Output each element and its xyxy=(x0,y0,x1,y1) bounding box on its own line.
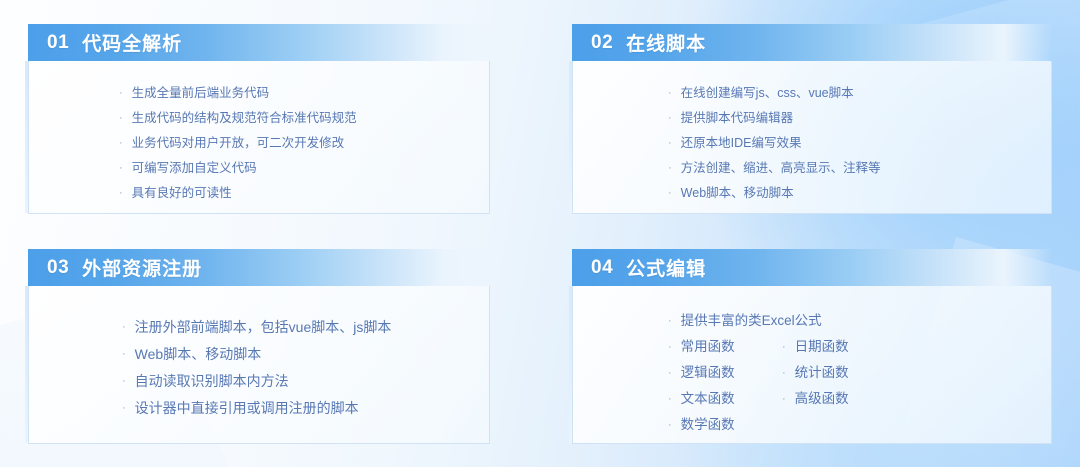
list-item: ·业务代码对用户开放，可二次开发修改 xyxy=(119,131,489,156)
list-item-label: Web脚本、移动脚本 xyxy=(681,181,794,206)
bullet-dot-icon: · xyxy=(782,360,786,386)
card-03-bullet-list: ·注册外部前端脚本，包括vue脚本、js脚本 ·Web脚本、移动脚本 ·自动读取… xyxy=(122,314,489,422)
bullet-dot-icon: · xyxy=(119,181,123,206)
card-01-body: ·生成全量前后端业务代码 ·生成代码的结构及规范符合标准代码规范 ·业务代码对用… xyxy=(28,61,490,214)
card-04-left-rail xyxy=(569,286,572,443)
list-item-label: 可编写添加自定义代码 xyxy=(132,156,257,181)
list-item-label: 还原本地IDE编写效果 xyxy=(681,131,802,156)
card-01-number: 01 xyxy=(47,32,69,54)
bullet-dot-icon: · xyxy=(668,181,672,206)
card-02-header: 02 在线脚本 xyxy=(572,24,1052,61)
bullet-dot-icon: · xyxy=(122,341,126,368)
card-04-function-columns: ·常用函数 ·逻辑函数 ·文本函数 ·数学函数 ·日期函数 ·统计函数 ·高级函… xyxy=(668,334,1051,438)
card-02-number: 02 xyxy=(591,32,613,54)
bullet-dot-icon: · xyxy=(668,156,672,181)
bullet-dot-icon: · xyxy=(119,106,123,131)
feature-card-grid: 01 代码全解析 ·生成全量前后端业务代码 ·生成代码的结构及规范符合标准代码规… xyxy=(0,0,1080,467)
card-03-number: 03 xyxy=(47,257,69,279)
bullet-dot-icon: · xyxy=(668,106,672,131)
card-04-column-right: ·日期函数 ·统计函数 ·高级函数 xyxy=(782,334,849,438)
card-03-left-rail xyxy=(25,286,28,443)
card-04-content: ·提供丰富的类Excel公式 ·常用函数 ·逻辑函数 ·文本函数 ·数学函数 ·… xyxy=(668,308,1051,438)
card-04-header: 04 公式编辑 xyxy=(572,249,1052,286)
list-item-label: 数学函数 xyxy=(681,412,735,438)
list-item-label: 在线创建编写js、css、vue脚本 xyxy=(681,81,854,106)
bullet-dot-icon: · xyxy=(782,386,786,412)
list-item-label: 注册外部前端脚本，包括vue脚本、js脚本 xyxy=(135,314,392,341)
list-item-label: 提供丰富的类Excel公式 xyxy=(681,308,822,334)
list-item: ·生成代码的结构及规范符合标准代码规范 xyxy=(119,106,489,131)
card-01-header: 01 代码全解析 xyxy=(28,24,490,61)
list-item-label: 文本函数 xyxy=(681,386,735,412)
list-item: ·具有良好的可读性 xyxy=(119,181,489,206)
card-02-title: 在线脚本 xyxy=(626,29,706,56)
list-item-label: 提供脚本代码编辑器 xyxy=(681,106,794,131)
card-02-left-rail xyxy=(569,61,572,213)
list-item: ·方法创建、缩进、高亮显示、注释等 xyxy=(668,156,1051,181)
bullet-dot-icon: · xyxy=(668,412,672,438)
card-03-title: 外部资源注册 xyxy=(82,254,202,281)
list-item-label: 常用函数 xyxy=(681,334,735,360)
list-item: ·常用函数 xyxy=(668,334,782,360)
card-01-left-rail xyxy=(25,61,28,213)
bullet-dot-icon: · xyxy=(668,308,672,334)
list-item-label: 日期函数 xyxy=(795,334,849,360)
list-item-label: Web脚本、移动脚本 xyxy=(135,341,262,368)
list-item-label: 高级函数 xyxy=(795,386,849,412)
card-01-bullet-list: ·生成全量前后端业务代码 ·生成代码的结构及规范符合标准代码规范 ·业务代码对用… xyxy=(119,81,489,206)
list-item-label: 自动读取识别脚本内方法 xyxy=(135,368,289,395)
list-item: ·注册外部前端脚本，包括vue脚本、js脚本 xyxy=(122,314,489,341)
card-04-lead-list: ·提供丰富的类Excel公式 xyxy=(668,308,1051,334)
list-item: ·设计器中直接引用或调用注册的脚本 xyxy=(122,395,489,422)
bullet-dot-icon: · xyxy=(668,131,672,156)
bullet-dot-icon: · xyxy=(668,81,672,106)
list-item: ·提供脚本代码编辑器 xyxy=(668,106,1051,131)
bullet-dot-icon: · xyxy=(668,360,672,386)
list-item: ·自动读取识别脚本内方法 xyxy=(122,368,489,395)
card-04-title: 公式编辑 xyxy=(626,254,706,281)
list-item-label: 具有良好的可读性 xyxy=(132,181,232,206)
card-03-header: 03 外部资源注册 xyxy=(28,249,490,286)
card-03-body: ·注册外部前端脚本，包括vue脚本、js脚本 ·Web脚本、移动脚本 ·自动读取… xyxy=(28,286,490,444)
bullet-dot-icon: · xyxy=(119,131,123,156)
bullet-dot-icon: · xyxy=(122,314,126,341)
list-item-label: 生成代码的结构及规范符合标准代码规范 xyxy=(132,106,357,131)
card-02-bullet-list: ·在线创建编写js、css、vue脚本 ·提供脚本代码编辑器 ·还原本地IDE编… xyxy=(668,81,1051,206)
card-04-number: 04 xyxy=(591,257,613,279)
list-item: ·Web脚本、移动脚本 xyxy=(122,341,489,368)
list-item: ·统计函数 xyxy=(782,360,849,386)
bullet-dot-icon: · xyxy=(782,334,786,360)
list-item: ·日期函数 xyxy=(782,334,849,360)
bullet-dot-icon: · xyxy=(122,368,126,395)
card-04-body: ·提供丰富的类Excel公式 ·常用函数 ·逻辑函数 ·文本函数 ·数学函数 ·… xyxy=(572,286,1052,444)
feature-card-03: 03 外部资源注册 ·注册外部前端脚本，包括vue脚本、js脚本 ·Web脚本、… xyxy=(28,249,490,444)
list-item-label: 业务代码对用户开放，可二次开发修改 xyxy=(132,131,345,156)
list-item: ·在线创建编写js、css、vue脚本 xyxy=(668,81,1051,106)
bullet-dot-icon: · xyxy=(119,156,123,181)
list-item: ·Web脚本、移动脚本 xyxy=(668,181,1051,206)
bullet-dot-icon: · xyxy=(119,81,123,106)
list-item: ·逻辑函数 xyxy=(668,360,782,386)
card-02-body: ·在线创建编写js、css、vue脚本 ·提供脚本代码编辑器 ·还原本地IDE编… xyxy=(572,61,1052,214)
list-item-label: 统计函数 xyxy=(795,360,849,386)
list-item-label: 方法创建、缩进、高亮显示、注释等 xyxy=(681,156,881,181)
feature-card-02: 02 在线脚本 ·在线创建编写js、css、vue脚本 ·提供脚本代码编辑器 ·… xyxy=(572,24,1052,214)
list-item: ·提供丰富的类Excel公式 xyxy=(668,308,1051,334)
card-04-column-left: ·常用函数 ·逻辑函数 ·文本函数 ·数学函数 xyxy=(668,334,782,438)
list-item-label: 逻辑函数 xyxy=(681,360,735,386)
list-item: ·还原本地IDE编写效果 xyxy=(668,131,1051,156)
card-01-title: 代码全解析 xyxy=(82,29,182,56)
list-item-label: 设计器中直接引用或调用注册的脚本 xyxy=(135,395,359,422)
bullet-dot-icon: · xyxy=(668,386,672,412)
bullet-dot-icon: · xyxy=(668,334,672,360)
list-item: ·生成全量前后端业务代码 xyxy=(119,81,489,106)
list-item: ·高级函数 xyxy=(782,386,849,412)
list-item: ·数学函数 xyxy=(668,412,782,438)
list-item: ·可编写添加自定义代码 xyxy=(119,156,489,181)
list-item-label: 生成全量前后端业务代码 xyxy=(132,81,270,106)
bullet-dot-icon: · xyxy=(122,395,126,422)
list-item: ·文本函数 xyxy=(668,386,782,412)
feature-card-04: 04 公式编辑 ·提供丰富的类Excel公式 ·常用函数 ·逻辑函数 ·文本函数… xyxy=(572,249,1052,444)
feature-card-01: 01 代码全解析 ·生成全量前后端业务代码 ·生成代码的结构及规范符合标准代码规… xyxy=(28,24,490,214)
